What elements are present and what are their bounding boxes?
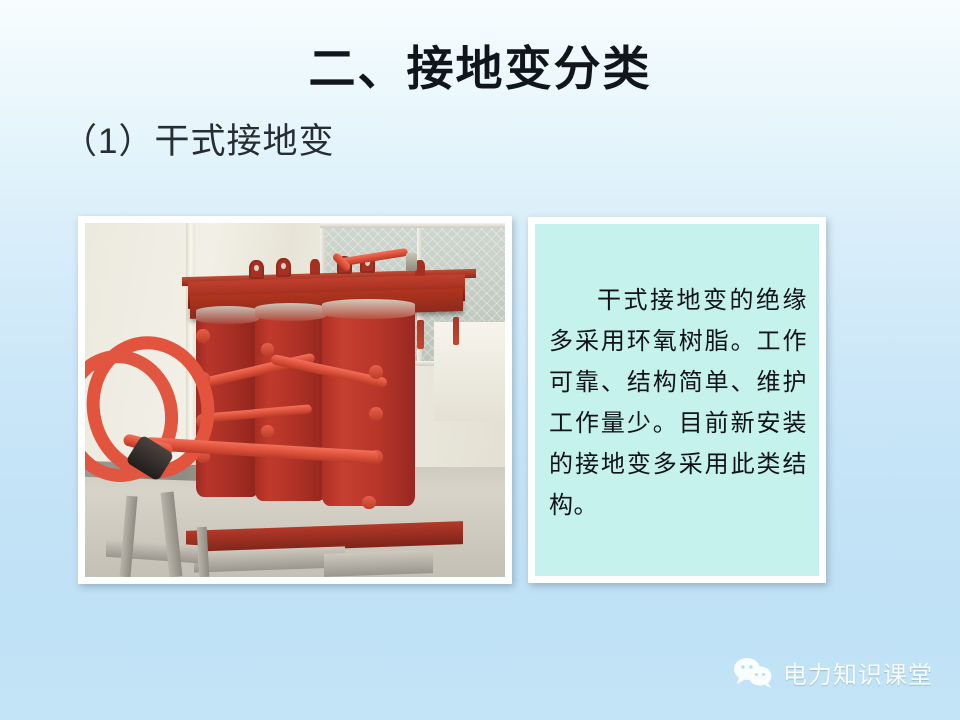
photo-coil-3 — [322, 306, 414, 506]
page-title: 二、接地变分类 — [0, 38, 960, 100]
photo-terminal-7 — [369, 365, 383, 379]
wechat-icon — [733, 657, 775, 689]
photo-terminal-10 — [362, 496, 375, 509]
photo-frame — [78, 216, 512, 584]
section-subtitle: （1）干式接地变 — [62, 118, 334, 166]
photo-background-insulator-3 — [453, 317, 460, 345]
photo-terminal-8 — [369, 407, 383, 421]
description-text: 干式接地变的绝缘多采用环氧树脂。工作可靠、结构简单、维护工作量少。目前新安装的接… — [535, 224, 819, 526]
photo-terminal-1 — [196, 329, 209, 342]
photo-coil-1-top — [196, 306, 259, 324]
transformer-photo — [85, 223, 505, 577]
photo-lifting-lug-2 — [276, 258, 291, 276]
slide-canvas: 二、接地变分类 （1）干式接地变 — [0, 0, 960, 720]
photo-coil-3-top — [322, 299, 414, 319]
photo-wall-panel — [434, 322, 505, 421]
photo-background-insulator-2 — [417, 320, 424, 348]
photo-terminal-5 — [261, 343, 274, 356]
photo-terminal-6 — [261, 425, 274, 438]
photo-base-channel-2 — [324, 550, 433, 577]
photo-lifting-lug-5 — [310, 259, 320, 275]
photo-coil-2-top — [255, 303, 326, 321]
watermark-label: 电力知识课堂 — [783, 655, 933, 690]
photo-lifting-lug-1 — [249, 260, 264, 278]
watermark: 电力知识课堂 — [733, 655, 933, 690]
photo-hv-cable-terminal — [406, 253, 417, 271]
description-textbox: 干式接地变的绝缘多采用环氧树脂。工作可靠、结构简单、维护工作量少。目前新安装的接… — [528, 217, 826, 583]
photo-window-frame-top — [320, 223, 505, 228]
